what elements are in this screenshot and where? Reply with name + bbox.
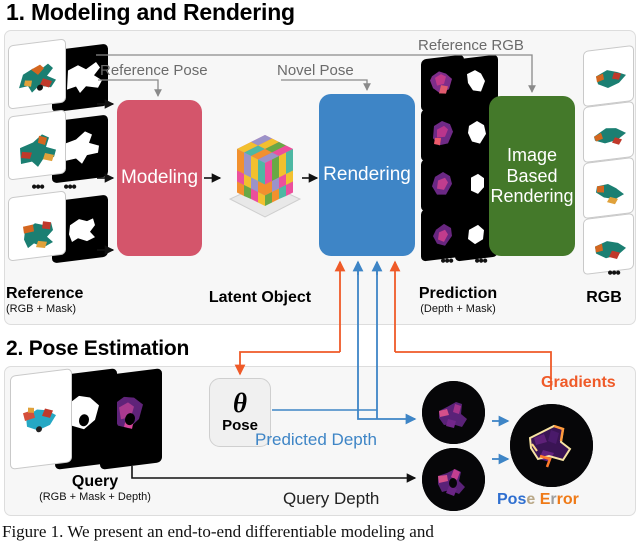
figure-root: 1. Modeling and Rendering 2. Pose Estima… — [0, 0, 640, 543]
gradients-label: Gradients — [541, 374, 616, 392]
ibr-line-2: Based — [506, 166, 557, 186]
latent-object-caption-title: Latent Object — [185, 289, 335, 307]
latent-object-caption: Latent Object — [185, 289, 335, 307]
image-based-rendering-box[interactable]: Image Based Rendering — [489, 96, 575, 256]
ibr-line-1: Image — [507, 145, 557, 165]
reference-rgb-label: Reference RGB — [418, 37, 524, 54]
pose-error-render — [510, 404, 593, 487]
rendering-box[interactable]: Rendering — [319, 94, 415, 256]
modeling-box[interactable]: Modeling — [117, 100, 202, 256]
reference-caption: Reference (RGB + Mask) — [6, 285, 126, 315]
reference-mask-ellipsis: ••• — [63, 184, 75, 189]
gradient-path-to-pose — [240, 352, 340, 374]
predicted-depth-render — [422, 381, 485, 444]
reference-to-modeling-arrows — [97, 104, 113, 250]
prediction-caption-subtitle: (Depth + Mask) — [398, 303, 518, 315]
query-depth-label: Query Depth — [283, 489, 379, 509]
rgb-caption: RGB — [574, 289, 634, 307]
query-depth-render — [422, 448, 485, 511]
novel-pose-label: Novel Pose — [277, 62, 354, 79]
reference-caption-subtitle: (RGB + Mask) — [6, 303, 126, 315]
latent-object-cube — [222, 127, 308, 223]
reference-pose-label: Reference Pose — [100, 62, 208, 79]
novel-pose-arrow — [281, 80, 367, 90]
pose-error-label: Pose Error — [497, 491, 579, 509]
query-caption: Query (RGB + Mask + Depth) — [30, 473, 160, 503]
rgb-output-ellipsis: ••• — [607, 270, 619, 275]
theta-symbol: θ — [233, 391, 247, 417]
ibr-line-3: Rendering — [490, 186, 573, 206]
prediction-mask-ellipsis: ••• — [474, 258, 486, 263]
query-caption-subtitle: (RGB + Mask + Depth) — [30, 491, 160, 503]
query-caption-title: Query — [30, 473, 160, 491]
prediction-caption-title: Prediction — [398, 285, 518, 303]
query-depth-arrow — [132, 466, 415, 478]
reference-pose-arrow — [98, 80, 158, 96]
predicted-depth-label: Predicted Depth — [255, 430, 377, 450]
rgb-caption-title: RGB — [574, 289, 634, 307]
reference-ellipsis: ••• — [31, 184, 43, 189]
prediction-depth-ellipsis: ••• — [440, 258, 452, 263]
pose-label: Pose — [222, 417, 258, 434]
reference-caption-title: Reference — [6, 285, 126, 303]
prediction-caption: Prediction (Depth + Mask) — [398, 285, 518, 315]
